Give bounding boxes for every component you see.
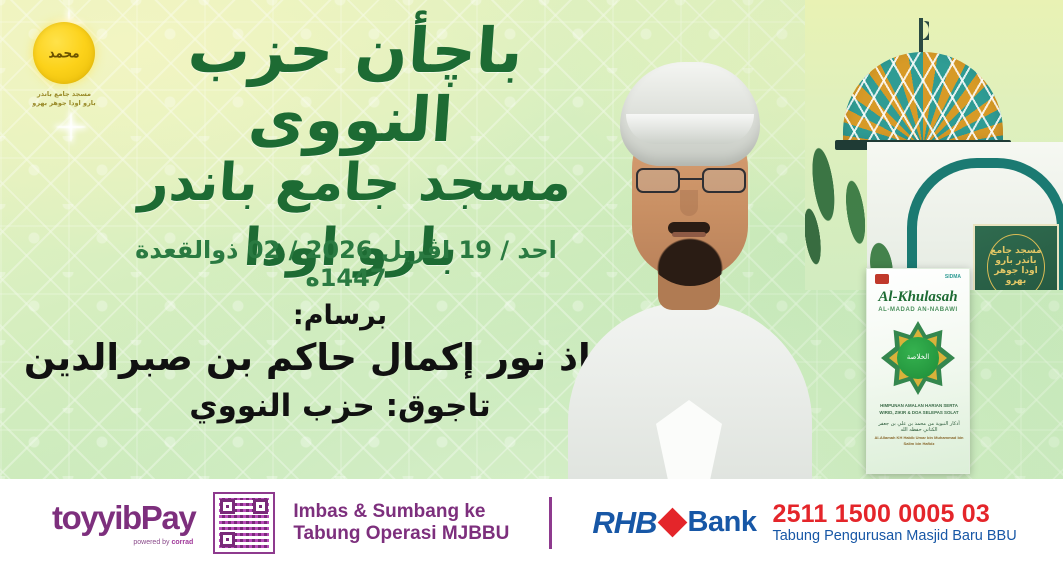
toyyibpay-part1: toyyib [52,499,141,536]
bank-wordmark: Bank [688,506,757,539]
glasses-bridge [680,178,702,180]
bank-account-block: 2511 1500 0005 03 Tabung Pengurusan Masj… [772,501,1016,546]
medallion-text: الخلاصة [907,354,929,362]
book-description: HIMPUNAN AMALAN HARIAN SERTA WIRID, ZIKI… [873,403,965,416]
rhb-wordmark: RHB [592,505,656,541]
toyyibpay-logo[interactable]: toyyibPay powered by corrad [52,501,195,545]
book-arabic-note: أذكار النبوية من محمد بن علي بن جعفر الك… [873,421,965,433]
book-badge-icon [875,274,889,284]
qr-code-pattern [219,498,269,548]
medallion-center: الخلاصة [897,337,939,379]
book-subtitle: AL-MADAD AN-NABAWI [867,307,969,313]
donation-section: toyyibPay powered by corrad Imbas & Sumb… [0,492,1017,554]
bank-account-number: 2511 1500 0005 03 [772,501,1016,527]
portrait-glasses [636,168,746,194]
logo-subtitle-line2: بارو اودا جوهر بهرو [18,99,110,108]
mosque-photo: مسجد جامع باندر بارو اودا جوهر بهرو [805,0,1063,290]
logo-emblem-circle: محمد [33,22,95,84]
bank-account-label: Tabung Pengurusan Masjid Baru BBU [772,528,1016,545]
qr-finder-icon [253,499,268,514]
powered-by-text: powered by corrad [133,539,193,546]
logo-subtitle: مسجد جامع باندر بارو اودا جوهر بهرو [18,90,110,108]
portrait-mouth [672,232,706,237]
mosque-signboard: مسجد جامع باندر بارو اودا جوهر بهرو [973,224,1059,290]
event-poster: محمد مسجد جامع باندر بارو اودا جوهر بهرو… [0,0,1063,567]
glasses-lens-right [702,168,746,193]
signboard-medallion: مسجد جامع باندر بارو اودا جوهر بهرو [987,234,1045,290]
donation-line-1: Imbas & Sumbang ke [293,501,509,523]
mosque-logo: محمد مسجد جامع باندر بارو اودا جوهر بهرو [18,22,110,108]
powered-by-brand: corrad [172,539,194,546]
book-cover: SIDMA Al-Khulasah AL-MADAD AN-NABAWI الخ… [866,268,970,474]
donation-instruction: Imbas & Sumbang ke Tabung Operasi MJBBU [293,501,509,546]
portrait-turban [620,62,760,166]
powered-by-label: powered by [133,539,169,546]
qr-code[interactable] [213,492,275,554]
portrait-beard [642,206,738,286]
signboard-text: مسجد جامع باندر بارو اودا جوهر بهرو [988,247,1044,287]
qr-finder-icon [220,499,235,514]
book-brand: SIDMA [945,274,961,280]
bank-section: RHB Bank 2511 1500 0005 03 Tabung Pengur… [592,501,1016,546]
footer-divider [549,497,552,549]
book-title: Al-Khulasah [867,289,969,306]
book-author: Al-Allamah KH Habib Umar bin Muhammad bi… [873,435,965,447]
glasses-lens-left [636,168,680,193]
title-line-1: باچأن حزب النووى [113,16,593,155]
logo-calligraphy: محمد [48,46,79,60]
footer-bar: toyyibPay powered by corrad Imbas & Sumb… [0,479,1063,567]
toyyibpay-part2: Pay [141,499,196,536]
event-date: احد / 19 اڤريل 2026 / 02 ذوالقعدة 1447ه [96,236,596,292]
qr-finder-icon [220,532,235,547]
logo-subtitle-line1: مسجد جامع باندر [18,90,110,99]
speaker-portrait [560,0,820,492]
dome-finial [919,18,923,56]
rhb-bank-logo: RHB Bank [592,505,756,541]
book-medallion: الخلاصة [881,321,955,395]
donation-line-2: Tabung Operasi MJBBU [293,523,509,545]
rhb-diamond-icon [657,508,687,538]
